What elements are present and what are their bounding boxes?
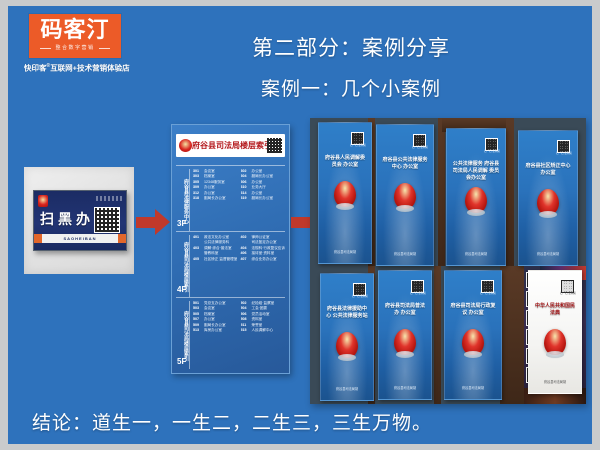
room-name: 人民调解中心 <box>252 328 286 333</box>
plate-footer: 府谷县司法局制 <box>377 252 433 257</box>
plate-footer: 府谷县司法局制 <box>319 250 371 255</box>
wall-sign-title: 扫黑办 <box>40 211 94 227</box>
floor-section-5f: 府谷县司法局楼层索引 5F 501党总支办公室 503会议室 505档案室 50… <box>176 297 285 369</box>
floor-room-column-right: 502纪检组·监察室 504工会·团委 506党员活动室 508资料室 511荣… <box>241 301 286 369</box>
logo-brand-subtext: 整合数字营销 <box>55 44 94 52</box>
door-plate: 扫一扫 更精彩 府谷县人民调解委员会 办公室 府谷县司法局制 <box>318 122 372 264</box>
list-item: 318副局长办公室 <box>193 196 238 201</box>
page-subtitle: 案例一：几个小案例 <box>186 78 516 102</box>
floor-room-columns-4f: 401政法文化办公室 公共法律服务科 403调解·综合·普法室 管教科室 405… <box>190 235 285 297</box>
room-number: 513 <box>193 328 202 333</box>
qr-pattern <box>412 281 423 292</box>
wood-divider <box>438 118 445 266</box>
door-plate: 扫一扫 更精彩 公共法律服务 府谷县司法局人民调解 委员会办公室 府谷县司法局制 <box>446 128 506 266</box>
floor-room-columns-5f: 501党总支办公室 503会议室 505档案室 507办公室 509副局长办公室… <box>190 301 285 369</box>
floor-room-columns-3f: 301会议室 303档案室 30512348服务室 309办公室 312办公室 … <box>190 169 285 231</box>
plate-footer: 府谷县司法局制 <box>321 387 373 392</box>
plate-qr-caption: 扫一扫 更精彩 <box>553 152 575 155</box>
floor-room-column-left: 501党总支办公室 503会议室 505档案室 507办公室 509副局长办公室… <box>193 301 238 369</box>
door-plate: 扫一扫 更精彩 府谷县公共法律服务中心 办公室 府谷县司法局制 <box>376 124 434 266</box>
room-name: 副局长办公室 <box>252 196 286 201</box>
national-emblem-icon <box>394 329 416 355</box>
presentation-slide: 码客汀 整合数字营销 快印客®互联网+技术营销体验店 第二部分：案例分享 案例一… <box>8 6 592 444</box>
logo-box: 码客汀 整合数字营销 <box>29 14 121 58</box>
national-emblem-icon <box>394 183 416 209</box>
logo-tagline: 快印客®互联网+技术营销体验店 <box>24 61 126 74</box>
logo-tagline-pre: 快印客 <box>24 64 47 73</box>
qr-code-icon <box>267 138 282 153</box>
directory-header-title: 府谷县司法局楼层索引牌 <box>192 141 267 151</box>
qr-code-icon <box>94 207 120 233</box>
wall-sign-plate: 扫黑办 SAOHEIBAN <box>33 190 127 251</box>
door-plate: 扫一扫 更精彩 府谷县司法局行政复议 办公室 府谷县司法局制 <box>444 270 502 400</box>
plate-footer: 府谷县司法局制 <box>529 380 581 385</box>
national-emblem-icon <box>544 329 566 355</box>
national-emblem-icon <box>465 187 487 213</box>
national-emblem-icon <box>336 332 358 358</box>
door-plate: 扫一扫 更精彩 府谷县社区矫正中心 办公室 府谷县司法局制 <box>518 130 578 266</box>
directory-header: 府谷县司法局楼层索引牌 <box>176 134 285 157</box>
plate-title: 府谷县社区矫正中心 办公室 <box>524 163 572 177</box>
floor-room-column-right: 402律师公证室 司法鉴定办公室 404法规科·行政复议应诉 406接待室·资料… <box>240 235 285 297</box>
room-name: 社区矫正 监督管理室 <box>204 257 237 262</box>
qr-pattern <box>354 284 365 295</box>
floor-room-column-left: 401政法文化办公室 公共法律服务科 403调解·综合·普法室 管教科室 405… <box>193 235 237 297</box>
national-emblem-icon <box>537 189 559 215</box>
arrow-right-icon-1 <box>136 209 170 235</box>
floor-section-3f: 府谷县法律服务中心 3F 301会议室 303档案室 30512348服务室 3… <box>176 165 285 231</box>
plate-qr-caption: 扫一扫 更精彩 <box>557 292 579 295</box>
room-number: 319 <box>241 196 250 201</box>
list-item: 513库房办公室 <box>193 328 238 333</box>
plate-qr-caption: 扫一扫 更精彩 <box>347 144 369 147</box>
qr-pattern <box>562 281 573 292</box>
plate-qr-caption: 扫一扫 更精彩 <box>349 295 371 298</box>
qr-pattern <box>95 208 119 232</box>
room-name: 综合业务办公室 <box>251 257 285 262</box>
national-emblem-icon <box>334 181 356 207</box>
list-item: 515人民调解中心 <box>241 328 286 333</box>
plate-title: 公共法律服务 府谷县司法局人民调解 委员会办公室 <box>452 161 500 182</box>
plate-footer: 府谷县司法局制 <box>445 386 501 391</box>
plate-qr-caption: 扫一扫 更精彩 <box>481 150 503 153</box>
plate-qr-caption: 扫一扫 更精彩 <box>409 146 431 149</box>
sign-corner-text <box>96 196 122 201</box>
list-item: 407综合业务办公室 <box>240 257 285 262</box>
arrow-shaft <box>291 217 312 228</box>
floor-number-3f: 3F <box>177 220 186 228</box>
logo-tagline-post: 互联网+技术营销体验店 <box>50 64 129 73</box>
qr-pattern <box>267 138 282 153</box>
qr-pattern <box>486 139 497 150</box>
brand-logo: 码客汀 整合数字营销 快印客®互联网+技术营销体验店 <box>29 14 127 74</box>
conclusion-text: 结论：道生一，一生二，二生三，三生万物。 <box>32 411 432 437</box>
wall-sign-pinyin: SAOHEIBAN <box>34 234 126 243</box>
national-emblem-icon <box>179 139 192 152</box>
plate-footer: 府谷县司法局制 <box>447 252 505 257</box>
wood-divider <box>506 118 514 266</box>
door-plate: 扫一扫 更精彩 府谷县法律援助中心 公共法律服务站 府谷县司法局制 <box>320 273 374 401</box>
plate-title: 府谷县人民调解委员会 办公室 <box>324 155 366 169</box>
room-number: 515 <box>241 328 250 333</box>
arrow-shaft <box>136 217 157 228</box>
list-item: 405社区矫正 监督管理室 <box>193 257 237 262</box>
room-name: 库房办公室 <box>204 328 238 333</box>
civil-code-plate: 扫一扫 更精彩 中华人民共和国民法典 府谷县司法局制 <box>528 270 582 394</box>
plate-title: 中华人民共和国民法典 <box>534 303 576 317</box>
plate-title: 府谷县公共法律服务中心 办公室 <box>382 157 428 171</box>
floor-number-5f: 5F <box>177 358 186 366</box>
emblem-icon <box>38 195 48 207</box>
plate-title: 府谷县司法局普法办 办公室 <box>384 303 426 317</box>
page-title: 第二部分：案例分享 <box>186 36 516 62</box>
wood-divider <box>500 266 524 404</box>
qr-pattern <box>414 135 425 146</box>
floor-room-column-left: 301会议室 303档案室 30512348服务室 309办公室 312办公室 … <box>193 169 238 231</box>
photo-plate-collage: 扫一扫 更精彩 府谷县人民调解委员会 办公室 府谷县司法局制 扫一扫 更精彩 府… <box>310 118 586 404</box>
plate-title: 府谷县法律援助中心 公共法律服务站 <box>326 306 368 320</box>
qr-pattern <box>482 281 493 292</box>
room-number: 405 <box>193 257 202 262</box>
plate-title: 府谷县司法局行政复议 办公室 <box>450 303 496 317</box>
logo-brand-text: 码客汀 <box>40 20 109 42</box>
room-number: 318 <box>193 196 202 201</box>
photo-wall-sign: 扫黑办 SAOHEIBAN <box>24 167 134 274</box>
plate-qr-caption: 扫一扫 更精彩 <box>477 292 499 295</box>
photo-directory-board: 府谷县司法局楼层索引牌 府谷县法律服务中心 3F 301会议室 303档案室 3… <box>171 124 290 374</box>
floor-number-4f: 4F <box>177 286 186 294</box>
arrow-head <box>155 209 170 235</box>
plate-footer: 府谷县司法局制 <box>519 252 577 257</box>
national-emblem-icon <box>462 329 484 355</box>
floor-section-4f: 府谷县司法局楼层索引 4F 401政法文化办公室 公共法律服务科 403调解·综… <box>176 231 285 297</box>
door-plate: 扫一扫 更精彩 府谷县司法局普法办 办公室 府谷县司法局制 <box>378 270 432 400</box>
list-item: 319副局长办公室 <box>241 196 286 201</box>
floor-room-column-right: 302办公室 304副局长办公室 306办公室 310业务大厅 314办公室 3… <box>241 169 286 231</box>
room-name: 副局长办公室 <box>204 196 238 201</box>
qr-pattern <box>352 133 363 144</box>
room-number: 407 <box>240 257 249 262</box>
plate-qr-caption: 扫一扫 更精彩 <box>407 292 429 295</box>
qr-pattern <box>558 141 569 152</box>
wood-divider <box>434 266 441 404</box>
plate-footer: 府谷县司法局制 <box>379 386 431 391</box>
